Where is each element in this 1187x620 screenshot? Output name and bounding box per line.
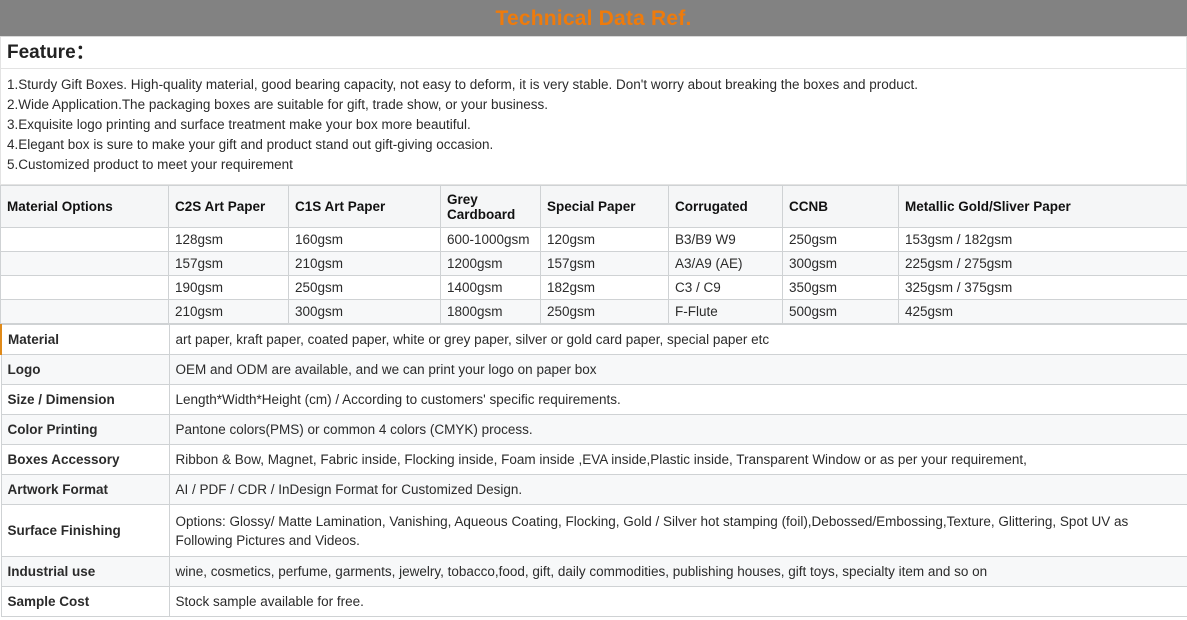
cell-metallic: 325gsm / 375gsm [899, 276, 1187, 300]
table-row-industrial-use: Industrial use wine, cosmetics, perfume,… [1, 557, 1187, 587]
page-title: Technical Data Ref. [496, 8, 692, 29]
table-header-row: Material Options C2S Art Paper C1S Art P… [1, 186, 1187, 228]
table-row: 128gsm 160gsm 600-1000gsm 120gsm B3/B9 W… [1, 228, 1187, 252]
cell-c1s: 160gsm [289, 228, 441, 252]
spec-value-color-printing: Pantone colors(PMS) or common 4 colors (… [169, 415, 1187, 445]
specification-table: Material art paper, kraft paper, coated … [0, 324, 1187, 617]
technical-data-page: Technical Data Ref. Feature： 1.Sturdy Gi… [0, 0, 1187, 620]
table-row-color-printing: Color Printing Pantone colors(PMS) or co… [1, 415, 1187, 445]
spec-value-material: art paper, kraft paper, coated paper, wh… [169, 325, 1187, 355]
cell-material-options [1, 300, 169, 324]
column-header-grey-cardboard: Grey Cardboard [441, 186, 541, 228]
spec-label-boxes-accessory: Boxes Accessory [1, 445, 169, 475]
cell-corrugated: A3/A9 (AE) [669, 252, 783, 276]
cell-grey: 1200gsm [441, 252, 541, 276]
table-row-surface-finishing: Surface Finishing Options: Glossy/ Matte… [1, 505, 1187, 557]
cell-special: 182gsm [541, 276, 669, 300]
spec-label-color-printing: Color Printing [1, 415, 169, 445]
cell-grey: 600-1000gsm [441, 228, 541, 252]
table-row-size-dimension: Size / Dimension Length*Width*Height (cm… [1, 385, 1187, 415]
column-header-corrugated: Corrugated [669, 186, 783, 228]
column-header-material-options: Material Options [1, 186, 169, 228]
cell-ccnb: 250gsm [783, 228, 899, 252]
spec-value-artwork-format: AI / PDF / CDR / InDesign Format for Cus… [169, 475, 1187, 505]
feature-heading-row: Feature： [0, 37, 1187, 69]
table-row: 190gsm 250gsm 1400gsm 182gsm C3 / C9 350… [1, 276, 1187, 300]
cell-material-options [1, 276, 169, 300]
cell-c2s: 128gsm [169, 228, 289, 252]
spec-value-logo: OEM and ODM are available, and we can pr… [169, 355, 1187, 385]
table-row: 157gsm 210gsm 1200gsm 157gsm A3/A9 (AE) … [1, 252, 1187, 276]
feature-heading: Feature： [7, 43, 95, 62]
spec-label-industrial-use: Industrial use [1, 557, 169, 587]
cell-c2s: 210gsm [169, 300, 289, 324]
cell-c1s: 210gsm [289, 252, 441, 276]
table-row: 210gsm 300gsm 1800gsm 250gsm F-Flute 500… [1, 300, 1187, 324]
column-header-c2s-art-paper: C2S Art Paper [169, 186, 289, 228]
table-row-material: Material art paper, kraft paper, coated … [1, 325, 1187, 355]
spec-label-sample-cost: Sample Cost [1, 587, 169, 617]
cell-corrugated: F-Flute [669, 300, 783, 324]
cell-metallic: 153gsm / 182gsm [899, 228, 1187, 252]
spec-label-size-dimension: Size / Dimension [1, 385, 169, 415]
feature-list-item: 4.Elegant box is sure to make your gift … [7, 135, 1180, 155]
spec-label-logo: Logo [1, 355, 169, 385]
column-header-ccnb: CCNB [783, 186, 899, 228]
cell-metallic: 225gsm / 275gsm [899, 252, 1187, 276]
cell-metallic: 425gsm [899, 300, 1187, 324]
spec-value-size-dimension: Length*Width*Height (cm) / According to … [169, 385, 1187, 415]
cell-c1s: 250gsm [289, 276, 441, 300]
cell-material-options [1, 228, 169, 252]
feature-list-item: 2.Wide Application.The packaging boxes a… [7, 95, 1180, 115]
cell-corrugated: B3/B9 W9 [669, 228, 783, 252]
cell-ccnb: 300gsm [783, 252, 899, 276]
cell-grey: 1800gsm [441, 300, 541, 324]
cell-grey: 1400gsm [441, 276, 541, 300]
spec-label-artwork-format: Artwork Format [1, 475, 169, 505]
feature-list-item: 1.Sturdy Gift Boxes. High-quality materi… [7, 75, 1180, 95]
table-row-sample-cost: Sample Cost Stock sample available for f… [1, 587, 1187, 617]
spec-value-surface-finishing: Options: Glossy/ Matte Lamination, Vanis… [169, 505, 1187, 557]
spec-label-surface-finishing: Surface Finishing [1, 505, 169, 557]
cell-special: 157gsm [541, 252, 669, 276]
cell-material-options [1, 252, 169, 276]
cell-c1s: 300gsm [289, 300, 441, 324]
feature-list-item: 5.Customized product to meet your requir… [7, 155, 1180, 175]
feature-list: 1.Sturdy Gift Boxes. High-quality materi… [0, 69, 1187, 185]
title-bar: Technical Data Ref. [0, 0, 1187, 37]
column-header-special-paper: Special Paper [541, 186, 669, 228]
column-header-metallic-paper: Metallic Gold/Sliver Paper [899, 186, 1187, 228]
material-options-table: Material Options C2S Art Paper C1S Art P… [0, 185, 1187, 324]
feature-list-item: 3.Exquisite logo printing and surface tr… [7, 115, 1180, 135]
cell-ccnb: 500gsm [783, 300, 899, 324]
spec-value-boxes-accessory: Ribbon & Bow, Magnet, Fabric inside, Flo… [169, 445, 1187, 475]
column-header-c1s-art-paper: C1S Art Paper [289, 186, 441, 228]
spec-value-industrial-use: wine, cosmetics, perfume, garments, jewe… [169, 557, 1187, 587]
cell-c2s: 190gsm [169, 276, 289, 300]
cell-c2s: 157gsm [169, 252, 289, 276]
spec-value-sample-cost: Stock sample available for free. [169, 587, 1187, 617]
cell-special: 120gsm [541, 228, 669, 252]
table-row-artwork-format: Artwork Format AI / PDF / CDR / InDesign… [1, 475, 1187, 505]
table-row-logo: Logo OEM and ODM are available, and we c… [1, 355, 1187, 385]
table-row-boxes-accessory: Boxes Accessory Ribbon & Bow, Magnet, Fa… [1, 445, 1187, 475]
cell-special: 250gsm [541, 300, 669, 324]
cell-ccnb: 350gsm [783, 276, 899, 300]
spec-label-material: Material [1, 325, 169, 355]
cell-corrugated: C3 / C9 [669, 276, 783, 300]
